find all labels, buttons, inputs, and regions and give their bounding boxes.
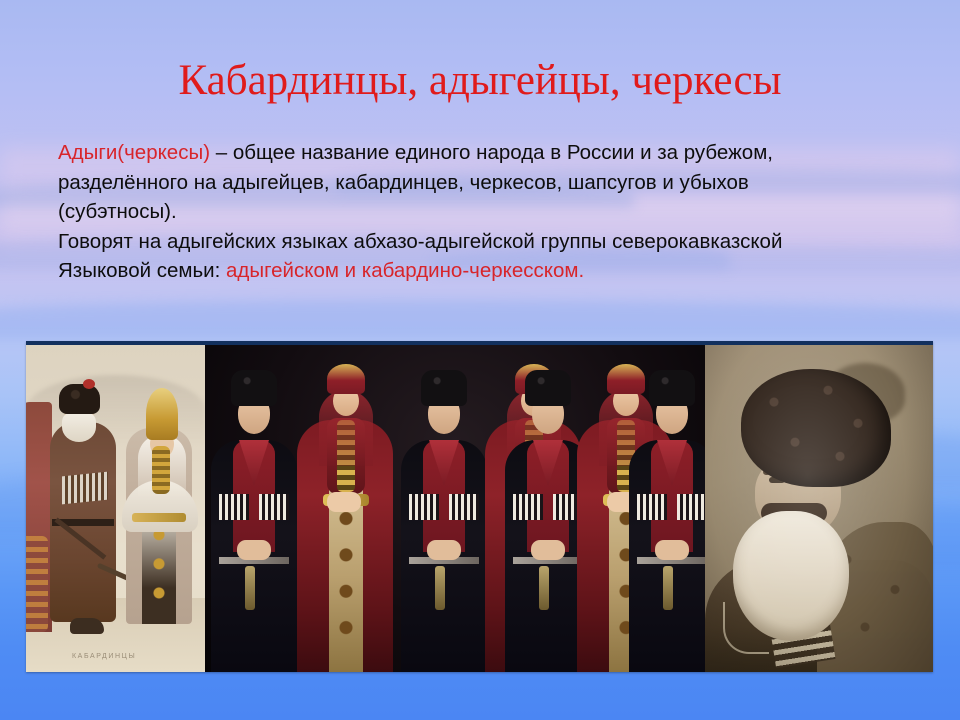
lithograph-figure-partial-trim: [26, 536, 48, 632]
dagger-icon: [663, 566, 673, 610]
dagger-icon: [435, 566, 445, 610]
body-line-3: (субэтносы).: [58, 197, 888, 227]
image-panel-sepia-portrait: [705, 345, 933, 672]
dancer-woman: [297, 362, 393, 672]
cartridge-loops-left: [219, 494, 249, 520]
mountain-ridge-icon: [0, 300, 960, 340]
image-panel-lithograph: КАБАРДИНЦЫ: [26, 345, 205, 672]
body-line-5-prefix: Языковой семьи:: [58, 259, 226, 282]
cartridge-loops-right: [449, 494, 479, 520]
tall-headdress-icon: [146, 388, 178, 440]
dancer-man: [211, 372, 297, 672]
dagger-icon: [539, 566, 549, 610]
cartridge-loops-right: [677, 494, 705, 520]
cartridge-loops-left: [637, 494, 667, 520]
slide-body-text: Адыги(черкесы) – общее название единого …: [58, 138, 888, 286]
papakha-hat-icon: [525, 370, 571, 406]
body-line-1-highlight: Адыги(черкесы): [58, 141, 210, 164]
dancer-man: [401, 372, 487, 672]
cartridge-loops-left: [409, 494, 439, 520]
papakha-hat-icon: [59, 384, 100, 414]
papakha-hat-icon: [649, 370, 695, 406]
body-line-5: Языковой семьи: адыгейском и кабардино-ч…: [58, 256, 888, 286]
body-line-1-rest: – общее название единого народа в России…: [210, 141, 773, 164]
lithograph-woman-belt: [132, 513, 186, 522]
body-line-5-highlight: адыгейском и кабардино-черкесском.: [226, 259, 584, 282]
sepia-vignette: [705, 345, 933, 672]
image-panel-dance-ensemble: [205, 345, 705, 672]
dancer-man: [629, 372, 705, 672]
lithograph-man-beard: [62, 412, 96, 442]
lithograph-woman-bib: [152, 446, 170, 494]
dancer-hands: [531, 540, 565, 560]
body-line-4: Говорят на адыгейских языках абхазо-адыг…: [58, 227, 888, 257]
slide-title: Кабардинцы, адыгейцы, черкесы: [0, 56, 960, 106]
cartridge-loops-right: [259, 494, 289, 520]
image-strip: КАБАРДИНЦЫ: [26, 341, 933, 672]
lithograph-man-cartridge-loops: [62, 472, 108, 505]
papakha-hat-icon: [421, 370, 467, 406]
body-line-1: Адыги(черкесы) – общее название единого …: [58, 138, 888, 168]
dancer-hands: [327, 492, 361, 512]
dancer-hands: [237, 540, 271, 560]
lithograph-man-boot: [70, 618, 104, 634]
gold-cap-icon: [327, 364, 365, 394]
dancer-hands: [655, 540, 689, 560]
dagger-icon: [245, 566, 255, 610]
lithograph-caption: КАБАРДИНЦЫ: [72, 653, 136, 660]
dancer-hands: [427, 540, 461, 560]
papakha-hat-icon: [231, 370, 277, 406]
presentation-slide: Кабардинцы, адыгейцы, черкесы Адыги(черк…: [0, 0, 960, 720]
cartridge-loops-left: [513, 494, 543, 520]
body-line-2: разделённого на адыгейцев, кабардинцев, …: [58, 168, 888, 198]
